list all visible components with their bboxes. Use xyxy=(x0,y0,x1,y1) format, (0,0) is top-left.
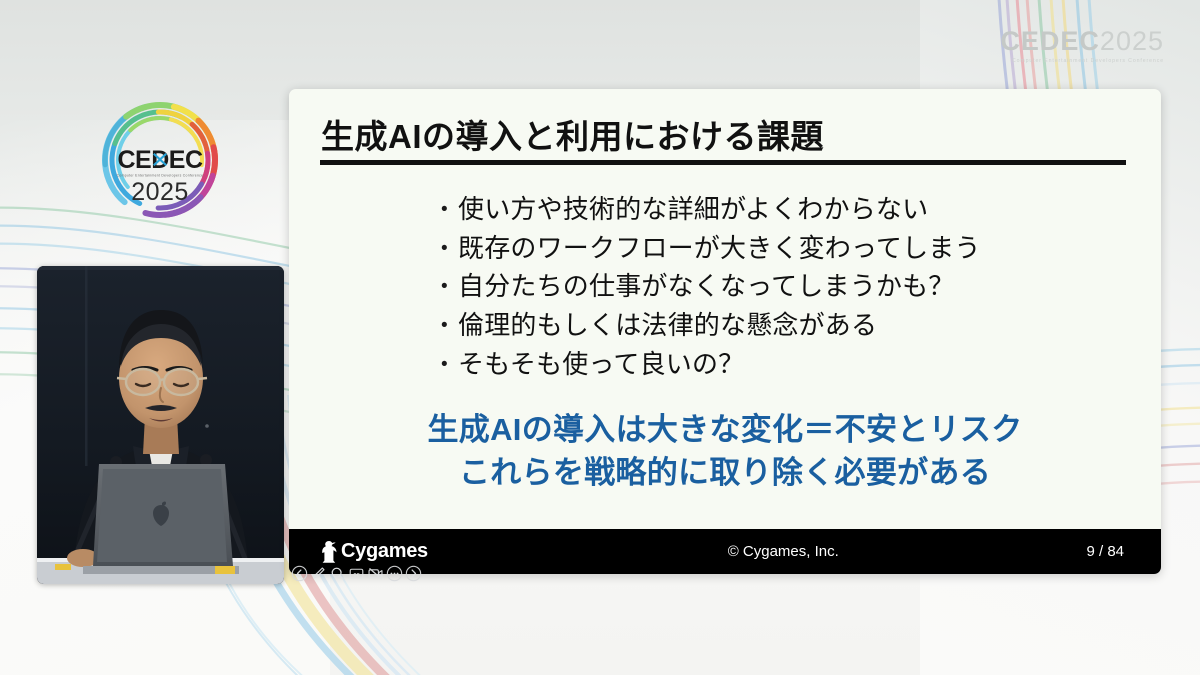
list-item: • 倫理的もしくは法律的な懸念がある xyxy=(441,310,1141,341)
page-indicator: 9 / 84 xyxy=(1086,543,1124,560)
watermark-tagline: Computer Entertainment Developers Confer… xyxy=(1000,58,1164,64)
cedec-logo-year: 2025 xyxy=(131,178,189,206)
cygames-mage-icon xyxy=(320,540,338,564)
list-item: • 使い方や技術的な詳細がよくわからない xyxy=(441,194,1141,225)
zoom-tool-button[interactable] xyxy=(329,565,346,582)
copyright-text: © Cygames, Inc. xyxy=(480,543,1086,560)
cedec-watermark: CEDEC2025 Computer Entertainment Develop… xyxy=(1000,28,1164,64)
list-item-label: 使い方や技術的な詳細がよくわからない xyxy=(458,194,928,225)
pen-tool-button[interactable] xyxy=(310,565,327,582)
conclusion-line-2: これらを戦略的に取り除く必要がある xyxy=(289,452,1161,495)
presentation-stage: CEDEC Computer Entertainment Developers … xyxy=(0,0,1200,675)
slide-title: 生成AIの導入と利用における課題 xyxy=(321,110,824,158)
presenter-toolbar[interactable]: cc xyxy=(291,565,422,582)
svg-text:cc: cc xyxy=(353,573,360,579)
list-item-label: そもそも使って良いの？ xyxy=(458,349,744,380)
captions-button[interactable]: cc xyxy=(348,565,365,582)
bullet-marker-icon: • xyxy=(441,355,458,374)
next-slide-button[interactable] xyxy=(405,565,422,582)
list-item-label: 倫理的もしくは法律的な懸念がある xyxy=(458,310,877,341)
cygames-wordmark: Cygames xyxy=(341,540,428,563)
conclusion-line-1: 生成AIの導入は大きな変化＝不安とリスク xyxy=(289,409,1161,452)
more-options-button[interactable] xyxy=(386,565,403,582)
speaker-camera-feed[interactable] xyxy=(37,266,284,584)
list-item-label: 自分たちの仕事がなくなってしまうかも？ xyxy=(458,271,955,302)
bullet-marker-icon: • xyxy=(441,316,458,335)
camera-off-button[interactable] xyxy=(367,565,384,582)
bullet-marker-icon: • xyxy=(441,277,458,296)
list-item: • 自分たちの仕事がなくなってしまうかも？ xyxy=(441,271,1141,302)
bullet-marker-icon: • xyxy=(441,239,458,258)
presentation-slide: 生成AIの導入と利用における課題 • 使い方や技術的な詳細がよくわからない • … xyxy=(289,89,1161,574)
previous-slide-button[interactable] xyxy=(291,565,308,582)
speaker-video-frame xyxy=(37,266,284,584)
bullet-marker-icon: • xyxy=(441,200,458,219)
watermark-wordmark: CEDEC2025 xyxy=(1000,28,1164,55)
cedec-logo-tagline: Computer Entertainment Developers Confer… xyxy=(117,174,204,178)
slide-conclusion: 生成AIの導入は大きな変化＝不安とリスク これらを戦略的に取り除く必要がある xyxy=(289,409,1161,495)
title-underline-rule xyxy=(320,160,1126,165)
slide-bullet-list: • 使い方や技術的な詳細がよくわからない • 既存のワークフローが大きく変わって… xyxy=(441,194,1141,387)
list-item-label: 既存のワークフローが大きく変わってしまう xyxy=(458,233,981,264)
cedec-2025-logo: CEDEC Computer Entertainment Developers … xyxy=(96,96,224,224)
list-item: • 既存のワークフローが大きく変わってしまう xyxy=(441,233,1141,264)
list-item: • そもそも使って良いの？ xyxy=(441,349,1141,380)
